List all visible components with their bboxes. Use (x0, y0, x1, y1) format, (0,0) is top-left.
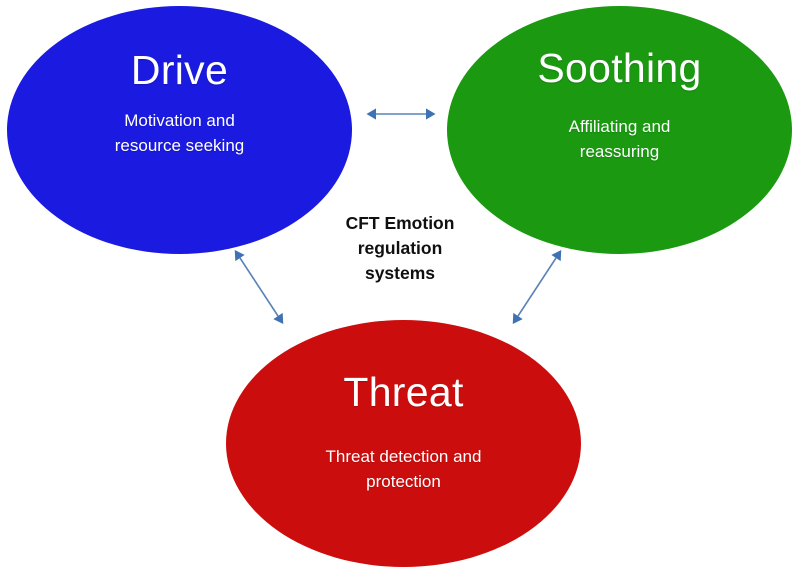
node-threat-title: Threat (343, 372, 463, 413)
center-caption-line-2: regulation (315, 236, 485, 261)
node-drive-title: Drive (131, 50, 228, 91)
node-soothing[interactable]: Soothing Affiliating and reassuring (447, 6, 792, 254)
center-caption: CFT Emotion regulation systems (315, 211, 485, 286)
center-caption-line-1: CFT Emotion (315, 211, 485, 236)
connector-soothing-threat-arrow-icon (508, 248, 568, 328)
cft-emotion-regulation-diagram: Drive Motivation and resource seeking So… (0, 0, 800, 569)
node-soothing-description: Affiliating and reassuring (569, 115, 671, 164)
node-soothing-title: Soothing (537, 48, 701, 89)
node-soothing-description-line-2: reassuring (569, 140, 671, 165)
connector-drive-threat-arrow-icon (230, 248, 290, 328)
node-drive-description: Motivation and resource seeking (115, 109, 244, 158)
center-caption-line-3: systems (315, 261, 485, 286)
node-threat-description-line-2: protection (326, 470, 482, 495)
node-drive[interactable]: Drive Motivation and resource seeking (7, 6, 352, 254)
node-threat-description: Threat detection and protection (326, 445, 482, 494)
node-drive-description-line-2: resource seeking (115, 134, 244, 159)
node-threat-description-line-1: Threat detection and (326, 445, 482, 470)
node-threat[interactable]: Threat Threat detection and protection (226, 320, 581, 567)
node-soothing-description-line-1: Affiliating and (569, 115, 671, 140)
node-drive-description-line-1: Motivation and (115, 109, 244, 134)
connector-drive-soothing-arrow-icon (368, 104, 434, 124)
